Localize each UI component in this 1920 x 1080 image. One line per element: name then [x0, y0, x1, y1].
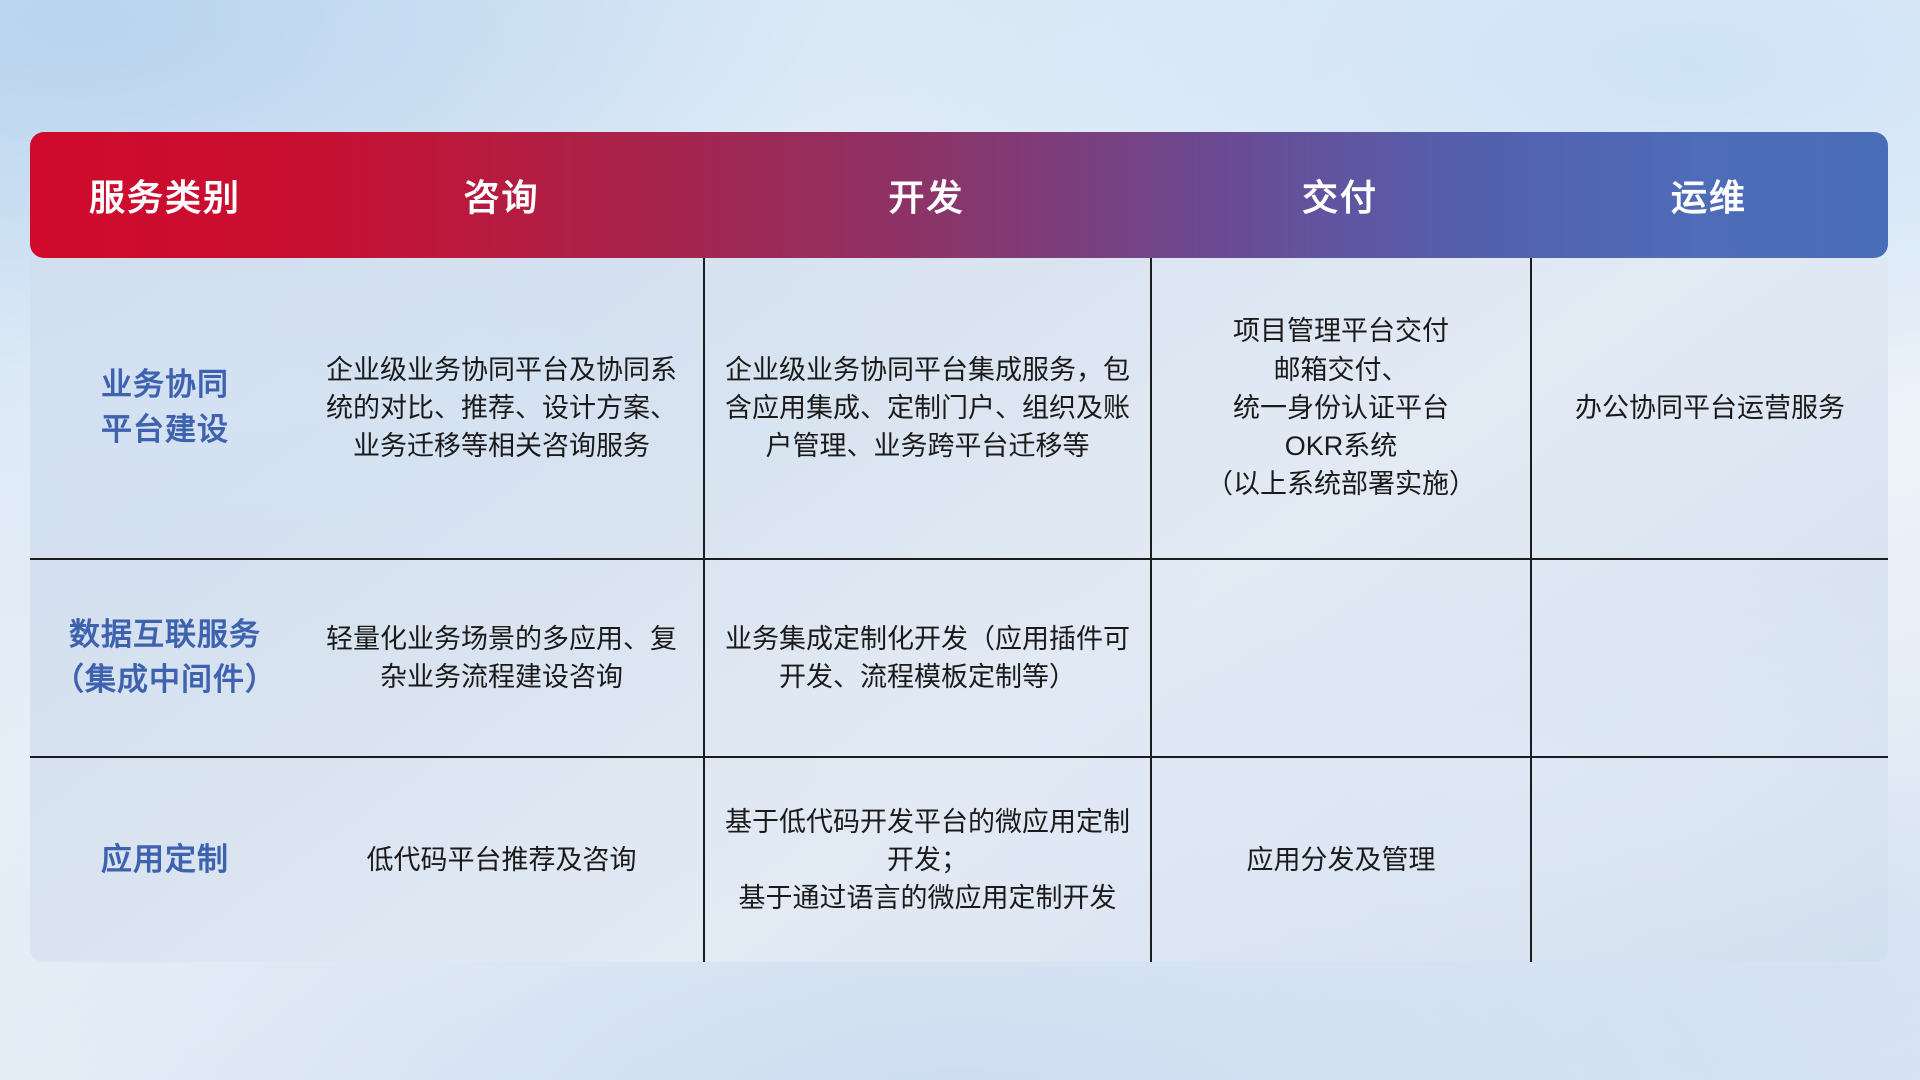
cell-data-interconnect-consulting: 轻量化业务场景的多应用、复杂业务流程建设咨询	[300, 558, 703, 756]
column-header-consulting[interactable]: 咨询	[300, 132, 703, 258]
column-header-category[interactable]: 服务类别	[30, 132, 300, 258]
service-matrix-table: 服务类别 咨询 开发 交付 运维 业务协同 平台建设 企业级业务协同平台及协同系…	[30, 132, 1888, 962]
cell-data-interconnect-delivery	[1150, 558, 1530, 756]
cell-app-customization-development: 基于低代码开发平台的微应用定制开发； 基于通过语言的微应用定制开发	[703, 756, 1150, 962]
cell-business-collaboration-consulting: 企业级业务协同平台及协同系统的对比、推荐、设计方案、业务迁移等相关咨询服务	[300, 258, 703, 558]
cell-business-collaboration-development: 企业级业务协同平台集成服务，包含应用集成、定制门户、组织及账户管理、业务跨平台迁…	[703, 258, 1150, 558]
row-label-business-collaboration: 业务协同 平台建设	[30, 258, 300, 558]
row-label-app-customization: 应用定制	[30, 756, 300, 962]
cell-business-collaboration-operations: 办公协同平台运营服务	[1530, 258, 1888, 558]
cell-app-customization-operations	[1530, 756, 1888, 962]
table-header: 服务类别 咨询 开发 交付 运维	[30, 132, 1888, 258]
column-header-delivery[interactable]: 交付	[1150, 132, 1530, 258]
cell-business-collaboration-delivery: 项目管理平台交付 邮箱交付、 统一身份认证平台 OKR系统 （以上系统部署实施）	[1150, 258, 1530, 558]
header-row: 服务类别 咨询 开发 交付 运维	[30, 132, 1888, 258]
cell-app-customization-delivery: 应用分发及管理	[1150, 756, 1530, 962]
column-header-operations[interactable]: 运维	[1530, 132, 1888, 258]
row-label-data-interconnect: 数据互联服务 （集成中间件）	[30, 558, 300, 756]
table-row: 应用定制 低代码平台推荐及咨询 基于低代码开发平台的微应用定制开发； 基于通过语…	[30, 756, 1888, 962]
table-row: 数据互联服务 （集成中间件） 轻量化业务场景的多应用、复杂业务流程建设咨询 业务…	[30, 558, 1888, 756]
service-matrix: 服务类别 咨询 开发 交付 运维 业务协同 平台建设 企业级业务协同平台及协同系…	[30, 132, 1888, 962]
cell-data-interconnect-development: 业务集成定制化开发（应用插件可开发、流程模板定制等）	[703, 558, 1150, 756]
table-row: 业务协同 平台建设 企业级业务协同平台及协同系统的对比、推荐、设计方案、业务迁移…	[30, 258, 1888, 558]
table-body: 业务协同 平台建设 企业级业务协同平台及协同系统的对比、推荐、设计方案、业务迁移…	[30, 258, 1888, 962]
cell-data-interconnect-operations	[1530, 558, 1888, 756]
cell-app-customization-consulting: 低代码平台推荐及咨询	[300, 756, 703, 962]
column-header-development[interactable]: 开发	[703, 132, 1150, 258]
